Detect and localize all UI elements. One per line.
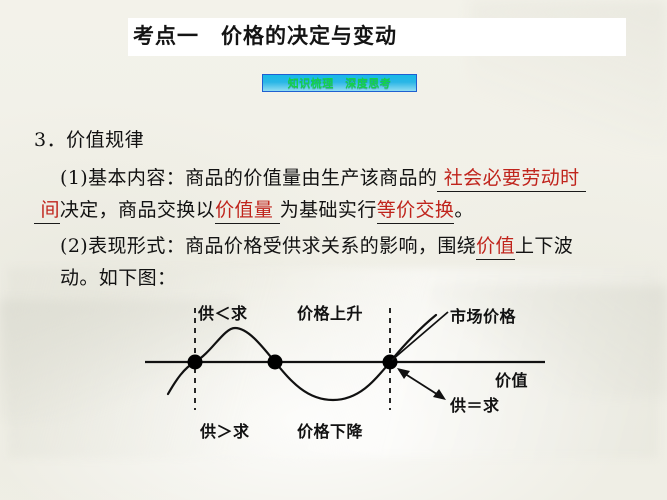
paragraph-1-text-a: (1)基本内容：商品的价值量由生产该商品的 bbox=[60, 167, 437, 189]
diagram-label-supply-more-demand: 供＞求 bbox=[200, 418, 250, 442]
blank-underline-2: 间 bbox=[34, 195, 60, 224]
paragraph-1-line-1: (1)基本内容：商品的价值量由生产该商品的 社会必要劳动时 bbox=[60, 163, 586, 192]
blank-underline-5: 价值 bbox=[476, 231, 515, 260]
arrowhead-down-right bbox=[433, 389, 446, 400]
blank-answer-5: 价值 bbox=[476, 235, 515, 257]
blank-underline-1: 社会必要劳动时 bbox=[437, 163, 586, 192]
diagram-label-supply-less-demand: 供＜求 bbox=[198, 300, 248, 324]
paragraph-2-line-2: 动。如下图： bbox=[60, 263, 176, 290]
diagram-label-price-fall: 价格下降 bbox=[297, 418, 363, 442]
intersection-dot-2 bbox=[268, 355, 283, 370]
paragraph-2-text-b: 上下波 bbox=[515, 235, 573, 257]
blank-underline-3: 价值量 bbox=[215, 195, 280, 224]
paragraph-2-line-1: (2)表现形式：商品价格受供求关系的影响，围绕价值上下波 bbox=[60, 231, 573, 260]
diagram-label-price-rise: 价格上升 bbox=[297, 300, 363, 324]
section-badge-label: 知识梳理 深度思考 bbox=[263, 75, 416, 91]
diagram-label-market-price: 市场价格 bbox=[450, 303, 516, 327]
diagram-label-supply-equals-demand: 供＝求 bbox=[450, 392, 500, 416]
page-title: 考点一 价格的决定与变动 bbox=[133, 20, 397, 50]
paragraph-1-line-2: 间决定，商品交换以价值量 为基础实行等价交换。 bbox=[34, 195, 474, 224]
paragraph-1-text-b: 决定，商品交换以 bbox=[60, 199, 215, 221]
market-price-leader-line bbox=[392, 312, 448, 360]
blank-answer-3: 价值量 bbox=[215, 199, 273, 221]
intersection-dot-1 bbox=[188, 355, 203, 370]
section-badge: 知识梳理 深度思考 bbox=[262, 74, 417, 92]
diagram-label-value-axis: 价值 bbox=[495, 367, 528, 391]
blank-answer-1: 社会必要劳动时 bbox=[444, 167, 580, 189]
paragraph-2-text-a: (2)表现形式：商品价格受供求关系的影响，围绕 bbox=[60, 235, 476, 257]
arrowhead-up-left bbox=[397, 368, 410, 379]
paragraph-1-text-d: 。 bbox=[454, 199, 473, 221]
blank-underline-4: 等价交换 bbox=[377, 195, 455, 224]
heading-value-law: 3．价值规律 bbox=[34, 125, 144, 152]
paragraph-1-text-c: 为基础实行 bbox=[280, 199, 377, 221]
blank-answer-4: 等价交换 bbox=[377, 199, 455, 221]
blank-answer-2: 间 bbox=[40, 199, 59, 221]
